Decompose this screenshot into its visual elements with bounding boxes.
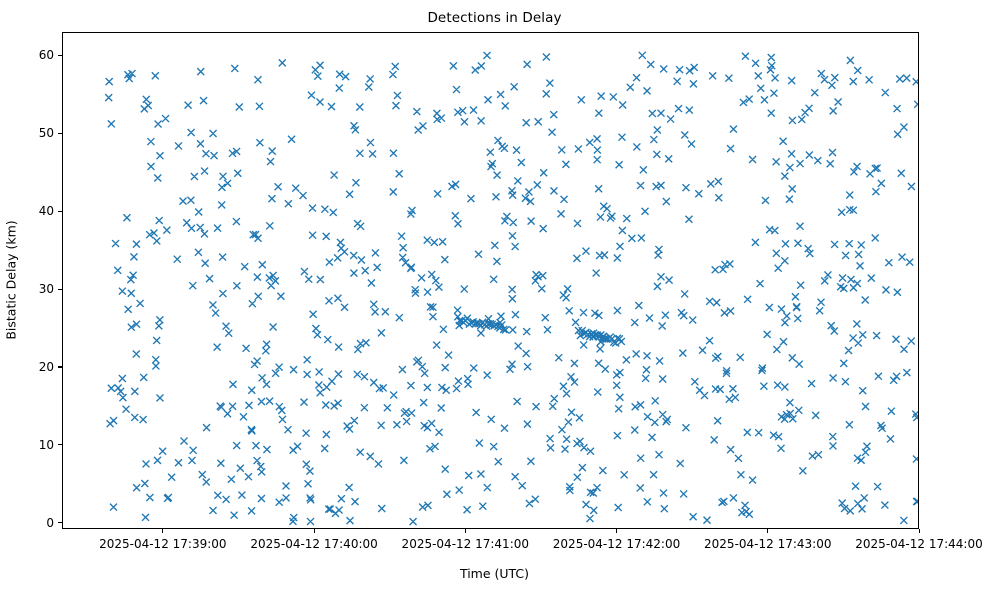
x-tick-mark: [919, 529, 920, 533]
x-axis-label: Time (UTC): [0, 566, 989, 581]
page-title: Detections in Delay: [0, 10, 989, 26]
x-tick-label: 2025-04-12 17:39:00: [99, 537, 226, 551]
scatter-marker-group: [105, 52, 918, 525]
y-tick-label: 0: [25, 516, 54, 530]
plot-area: [62, 32, 919, 529]
y-tick-label: 60: [25, 48, 54, 62]
y-axis-label: Bistatic Delay (km): [4, 220, 19, 339]
x-tick-label: 2025-04-12 17:42:00: [553, 537, 680, 551]
x-tick-mark: [616, 529, 617, 533]
y-tick-label: 30: [25, 282, 54, 296]
x-tick-label: 2025-04-12 17:40:00: [250, 537, 377, 551]
y-tick-label: 10: [25, 438, 54, 452]
x-tick-mark: [314, 529, 315, 533]
x-tick-mark: [767, 529, 768, 533]
y-tick-label: 50: [25, 126, 54, 140]
x-tick-label: 2025-04-12 17:41:00: [402, 537, 529, 551]
scatter-points: [63, 33, 918, 528]
x-tick-mark: [465, 529, 466, 533]
y-tick-label: 20: [25, 360, 54, 374]
x-tick-label: 2025-04-12 17:44:00: [855, 537, 982, 551]
y-tick-label: 40: [25, 204, 54, 218]
x-tick-mark: [162, 529, 163, 533]
x-tick-label: 2025-04-12 17:43:00: [704, 537, 831, 551]
matplotlib-figure: Detections in Delay Bistatic Delay (km) …: [0, 0, 989, 590]
